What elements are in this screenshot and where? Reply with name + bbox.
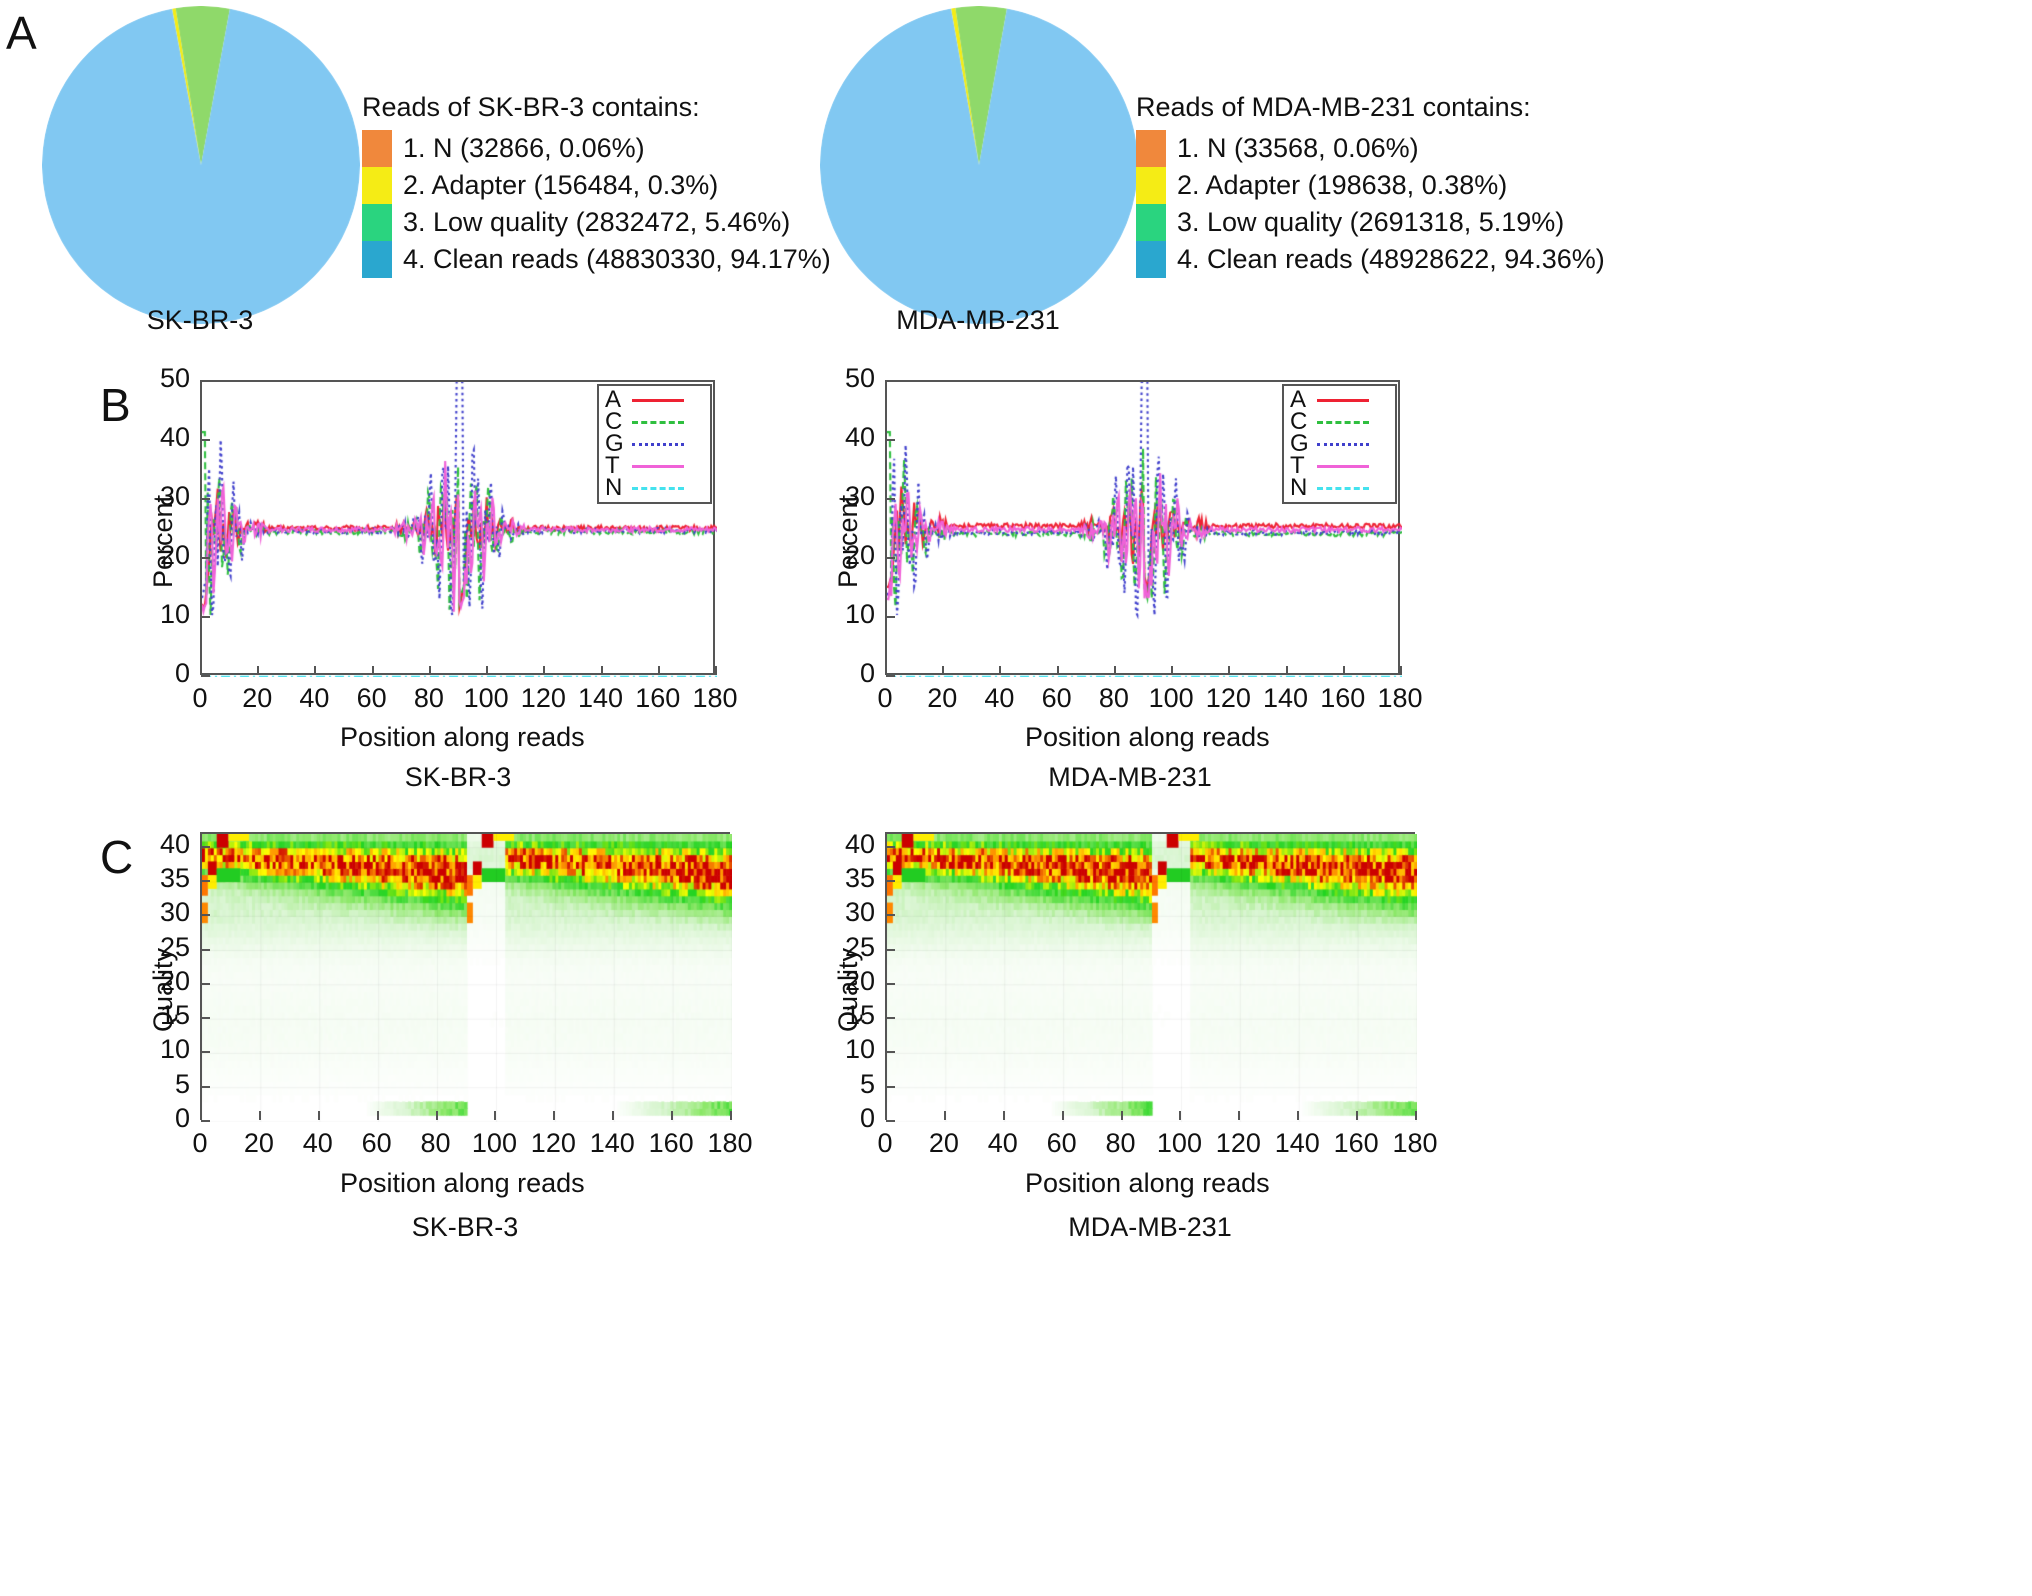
legend-swatch-n [1136, 130, 1166, 167]
y-tick-mark [201, 675, 210, 677]
x-tick-label: 40 [979, 1128, 1027, 1159]
x-tick-mark [1228, 666, 1230, 675]
base-legend: ACGTN [1282, 384, 1397, 504]
x-tick-label: 140 [577, 683, 625, 714]
y-tick-mark [886, 616, 895, 618]
y-tick-mark [201, 380, 210, 382]
x-tick-mark [944, 1111, 946, 1120]
y-tick-mark [201, 1017, 210, 1019]
x-tick-label: 20 [235, 1128, 283, 1159]
x-tick-label: 180 [1391, 1128, 1439, 1159]
x-tick-label: 160 [647, 1128, 695, 1159]
x-tick-mark [486, 666, 488, 675]
x-tick-label: 60 [353, 1128, 401, 1159]
x-tick-label: 20 [920, 1128, 968, 1159]
x-axis-title-position-right: Position along reads [1025, 722, 1270, 753]
x-tick-mark [377, 1111, 379, 1120]
pie-legend-mdamb231: Reads of MDA-MB-231 contains: 1. N (3356… [1136, 92, 1605, 278]
y-tick-mark [201, 983, 210, 985]
y-tick-label: 10 [130, 1034, 190, 1065]
y-tick-mark [886, 983, 895, 985]
base-legend-row: N [605, 477, 704, 499]
y-tick-label: 35 [130, 863, 190, 894]
x-axis-title-position-c-left: Position along reads [340, 1168, 585, 1199]
y-tick-label: 40 [815, 422, 875, 453]
x-tick-mark [1297, 1111, 1299, 1120]
base-legend-line-t [632, 465, 684, 468]
y-tick-label: 30 [815, 897, 875, 928]
y-tick-mark [201, 439, 210, 441]
x-tick-mark [1286, 666, 1288, 675]
y-tick-mark [886, 557, 895, 559]
x-tick-label: 60 [1033, 683, 1081, 714]
x-tick-label: 140 [588, 1128, 636, 1159]
x-tick-label: 20 [918, 683, 966, 714]
legend-label-n: 1. N (33568, 0.06%) [1177, 133, 1419, 164]
y-tick-label: 20 [130, 540, 190, 571]
x-tick-label: 160 [634, 683, 682, 714]
legend-swatch-adapter [1136, 167, 1166, 204]
y-tick-label: 40 [815, 829, 875, 860]
x-tick-mark [1114, 666, 1116, 675]
quality-heatmap-canvas [202, 834, 732, 1122]
x-tick-label: 100 [1147, 683, 1195, 714]
x-tick-mark [1062, 1111, 1064, 1120]
y-tick-label: 0 [815, 658, 875, 689]
y-tick-mark [886, 1086, 895, 1088]
y-tick-label: 5 [815, 1069, 875, 1100]
y-tick-label: 50 [130, 363, 190, 394]
x-tick-mark [942, 666, 944, 675]
y-tick-label: 20 [815, 966, 875, 997]
y-tick-mark [886, 498, 895, 500]
x-tick-mark [1415, 1111, 1417, 1120]
x-tick-label: 80 [412, 1128, 460, 1159]
x-tick-mark [200, 1111, 202, 1120]
panel-letter-a: A [6, 6, 37, 60]
y-tick-label: 0 [815, 1103, 875, 1134]
y-tick-label: 25 [130, 932, 190, 963]
y-tick-mark [201, 1120, 210, 1122]
legend-item: 4. Clean reads (48928622, 94.36%) [1136, 241, 1605, 278]
y-tick-mark [201, 949, 210, 951]
y-tick-label: 10 [815, 1034, 875, 1065]
base-legend-line-n [632, 487, 684, 490]
x-tick-mark [671, 1111, 673, 1120]
legend-item: 3. Low quality (2832472, 5.46%) [362, 204, 831, 241]
x-tick-mark [999, 666, 1001, 675]
legend-label-lowquality: 3. Low quality (2832472, 5.46%) [403, 207, 790, 238]
x-tick-mark [318, 1111, 320, 1120]
y-tick-label: 40 [130, 422, 190, 453]
quality-heatmap-skbr3 [200, 832, 730, 1120]
pie-caption-skbr3: SK-BR-3 [50, 305, 350, 336]
y-tick-label: 40 [130, 829, 190, 860]
x-tick-label: 80 [405, 683, 453, 714]
x-tick-mark [494, 1111, 496, 1120]
base-legend-line-g [1317, 443, 1369, 446]
x-tick-label: 120 [1214, 1128, 1262, 1159]
base-legend-line-g [632, 443, 684, 446]
x-axis-title-position-c-right: Position along reads [1025, 1168, 1270, 1199]
base-legend-line-n [1317, 487, 1369, 490]
x-tick-label: 120 [529, 1128, 577, 1159]
y-tick-label: 50 [815, 363, 875, 394]
x-tick-mark [1400, 666, 1402, 675]
y-tick-label: 30 [130, 897, 190, 928]
x-tick-mark [429, 666, 431, 675]
x-tick-mark [730, 1111, 732, 1120]
x-tick-label: 100 [1155, 1128, 1203, 1159]
x-tick-mark [259, 1111, 261, 1120]
base-legend: ACGTN [597, 384, 712, 504]
panel-letter-c: C [100, 830, 133, 884]
legend-item: 1. N (33568, 0.06%) [1136, 130, 1605, 167]
x-tick-label: 40 [294, 1128, 342, 1159]
legend-item: 4. Clean reads (48830330, 94.17%) [362, 241, 831, 278]
x-tick-mark [1356, 1111, 1358, 1120]
y-tick-label: 5 [130, 1069, 190, 1100]
x-tick-mark [436, 1111, 438, 1120]
legend-label-lowquality: 3. Low quality (2691318, 5.19%) [1177, 207, 1564, 238]
x-tick-mark [1238, 1111, 1240, 1120]
pie-chart-mdamb231 [820, 6, 1138, 324]
y-tick-mark [201, 1051, 210, 1053]
x-tick-mark [715, 666, 717, 675]
y-tick-mark [886, 880, 895, 882]
y-tick-label: 20 [130, 966, 190, 997]
y-tick-mark [201, 616, 210, 618]
legend-label-cleanreads: 4. Clean reads (48928622, 94.36%) [1177, 244, 1605, 275]
legend-swatch-n [362, 130, 392, 167]
base-legend-line-a [632, 399, 684, 402]
legend-label-adapter: 2. Adapter (156484, 0.3%) [403, 170, 718, 201]
y-tick-mark [886, 949, 895, 951]
y-tick-mark [886, 1051, 895, 1053]
y-tick-mark [201, 1086, 210, 1088]
pie-chart-skbr3 [42, 6, 360, 324]
x-tick-mark [612, 1111, 614, 1120]
y-tick-label: 0 [130, 1103, 190, 1134]
y-tick-mark [201, 914, 210, 916]
x-tick-label: 40 [975, 683, 1023, 714]
legend-label-n: 1. N (32866, 0.06%) [403, 133, 645, 164]
x-tick-label: 80 [1090, 683, 1138, 714]
x-tick-mark [1003, 1111, 1005, 1120]
x-tick-mark [885, 1111, 887, 1120]
x-tick-label: 20 [233, 683, 281, 714]
legend-title-mdamb231: Reads of MDA-MB-231 contains: [1136, 92, 1605, 123]
x-tick-mark [372, 666, 374, 675]
pie-legend-skbr3: Reads of SK-BR-3 contains: 1. N (32866, … [362, 92, 831, 278]
y-tick-mark [201, 880, 210, 882]
y-tick-label: 0 [130, 658, 190, 689]
y-tick-label: 20 [815, 540, 875, 571]
legend-item: 1. N (32866, 0.06%) [362, 130, 831, 167]
legend-item: 2. Adapter (198638, 0.38%) [1136, 167, 1605, 204]
x-tick-mark [543, 666, 545, 675]
quality-heatmap-mdamb231 [885, 832, 1415, 1120]
y-tick-mark [886, 439, 895, 441]
x-tick-label: 100 [462, 683, 510, 714]
panel-letter-b: B [100, 378, 131, 432]
x-tick-mark [885, 666, 887, 675]
x-tick-mark [658, 666, 660, 675]
x-tick-mark [553, 1111, 555, 1120]
plot-caption-c-mdamb231: MDA-MB-231 [990, 1212, 1310, 1243]
y-tick-label: 30 [130, 481, 190, 512]
x-tick-mark [257, 666, 259, 675]
legend-label-cleanreads: 4. Clean reads (48830330, 94.17%) [403, 244, 831, 275]
base-legend-line-a [1317, 399, 1369, 402]
legend-swatch-lowquality [1136, 204, 1166, 241]
x-tick-label: 160 [1332, 1128, 1380, 1159]
legend-swatch-adapter [362, 167, 392, 204]
x-tick-label: 60 [1038, 1128, 1086, 1159]
x-tick-label: 40 [290, 683, 338, 714]
base-legend-row: N [1290, 477, 1389, 499]
y-tick-mark [886, 380, 895, 382]
x-tick-mark [1343, 666, 1345, 675]
base-legend-line-t [1317, 465, 1369, 468]
x-tick-label: 120 [1204, 683, 1252, 714]
y-tick-label: 10 [815, 599, 875, 630]
y-tick-mark [201, 557, 210, 559]
y-tick-mark [886, 675, 895, 677]
x-tick-mark [314, 666, 316, 675]
y-tick-label: 10 [130, 599, 190, 630]
x-tick-label: 160 [1319, 683, 1367, 714]
x-tick-label: 60 [348, 683, 396, 714]
x-tick-mark [1057, 666, 1059, 675]
x-tick-label: 180 [691, 683, 739, 714]
y-tick-mark [886, 846, 895, 848]
legend-item: 3. Low quality (2691318, 5.19%) [1136, 204, 1605, 241]
x-tick-label: 140 [1262, 683, 1310, 714]
pie-canvas [820, 6, 1138, 324]
pie-caption-mdamb231: MDA-MB-231 [828, 305, 1128, 336]
x-tick-label: 100 [470, 1128, 518, 1159]
y-tick-label: 30 [815, 481, 875, 512]
x-tick-mark [601, 666, 603, 675]
legend-swatch-cleanreads [362, 241, 392, 278]
plot-caption-c-skbr3: SK-BR-3 [305, 1212, 625, 1243]
pie-skbr3-slices [42, 6, 360, 324]
x-tick-mark [1179, 1111, 1181, 1120]
x-tick-mark [1121, 1111, 1123, 1120]
x-tick-label: 120 [519, 683, 567, 714]
y-tick-mark [886, 914, 895, 916]
x-tick-label: 140 [1273, 1128, 1321, 1159]
legend-item: 2. Adapter (156484, 0.3%) [362, 167, 831, 204]
base-legend-line-c [1317, 421, 1369, 424]
pie-canvas [42, 6, 360, 324]
legend-swatch-cleanreads [1136, 241, 1166, 278]
y-tick-label: 35 [815, 863, 875, 894]
y-tick-mark [886, 1017, 895, 1019]
x-axis-title-position-left: Position along reads [340, 722, 585, 753]
pie-mdamb231-slices [820, 6, 1138, 324]
base-legend-line-c [632, 421, 684, 424]
y-tick-label: 15 [815, 1000, 875, 1031]
plot-caption-b-skbr3: SK-BR-3 [298, 762, 618, 793]
quality-heatmap-canvas [887, 834, 1417, 1122]
base-legend-name: N [605, 477, 629, 499]
y-tick-mark [201, 846, 210, 848]
x-tick-mark [200, 666, 202, 675]
y-tick-label: 25 [815, 932, 875, 963]
x-tick-mark [1171, 666, 1173, 675]
y-tick-mark [201, 498, 210, 500]
x-tick-label: 180 [706, 1128, 754, 1159]
y-tick-mark [886, 1120, 895, 1122]
legend-title-skbr3: Reads of SK-BR-3 contains: [362, 92, 831, 123]
plot-caption-b-mdamb231: MDA-MB-231 [970, 762, 1290, 793]
base-legend-name: N [1290, 477, 1314, 499]
x-tick-label: 180 [1376, 683, 1424, 714]
x-tick-label: 80 [1097, 1128, 1145, 1159]
legend-swatch-lowquality [362, 204, 392, 241]
y-tick-label: 15 [130, 1000, 190, 1031]
legend-label-adapter: 2. Adapter (198638, 0.38%) [1177, 170, 1507, 201]
